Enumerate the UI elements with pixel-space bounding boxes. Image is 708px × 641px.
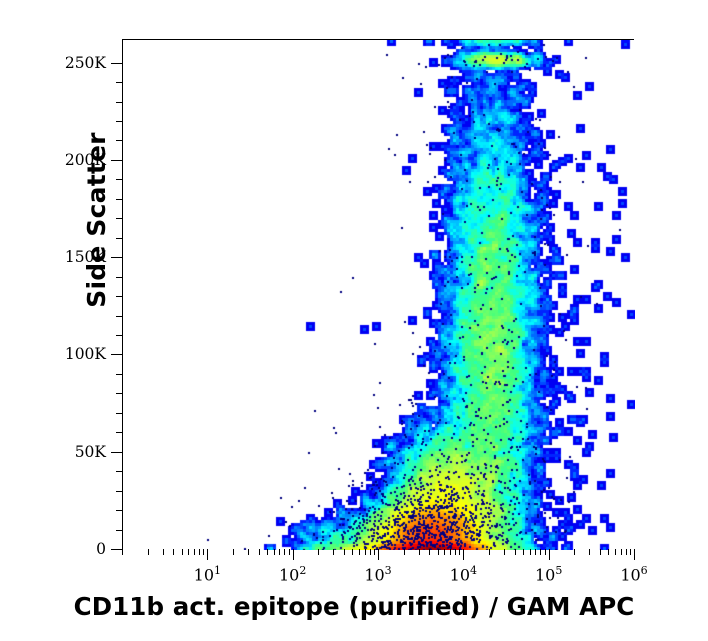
x-tick-minor <box>574 549 575 555</box>
y-tick-major <box>111 160 122 161</box>
y-tick-label: 100K <box>65 345 106 363</box>
x-tick-major <box>634 549 635 560</box>
x-tick-minor <box>279 549 280 555</box>
x-tick-minor <box>318 549 319 555</box>
x-tick-minor <box>370 549 371 555</box>
x-tick-major <box>378 549 379 560</box>
x-tick-label: 102 <box>279 564 306 584</box>
x-tick-minor <box>274 549 275 555</box>
plot-area <box>122 39 634 549</box>
x-tick-label: 106 <box>620 564 647 584</box>
x-tick-minor <box>615 549 616 555</box>
y-tick-major <box>111 452 122 453</box>
x-tick-minor <box>233 549 234 555</box>
x-tick-minor <box>374 549 375 555</box>
x-axis-title: CD11b act. epitope (purified) / GAM APC <box>0 592 708 621</box>
y-tick-label: 250K <box>65 54 106 72</box>
x-tick-minor <box>259 549 260 555</box>
x-tick-minor <box>352 549 353 555</box>
y-tick-label: 200K <box>65 151 106 169</box>
x-tick-minor <box>344 549 345 555</box>
y-tick-major <box>111 549 122 550</box>
x-tick-minor <box>444 549 445 555</box>
y-tick-label: 50K <box>75 443 106 461</box>
x-tick-minor <box>182 549 183 555</box>
y-axis: 050K100K150K200K250K <box>0 39 122 549</box>
x-tick-minor <box>333 549 334 555</box>
x-tick-minor <box>608 549 609 555</box>
chart-stage: Side Scatter 050K100K150K200K250K 101102… <box>0 0 708 641</box>
x-tick-minor <box>148 549 149 555</box>
x-tick-minor <box>365 549 366 555</box>
x-tick-minor <box>535 549 536 555</box>
x-tick-major <box>549 549 550 560</box>
y-tick-major <box>111 257 122 258</box>
x-tick-minor <box>188 549 189 555</box>
x-tick-minor <box>163 549 164 555</box>
x-tick-minor <box>621 549 622 555</box>
density-scatter-canvas <box>123 40 635 550</box>
x-tick-label: 105 <box>535 564 562 584</box>
x-tick-label: 104 <box>450 564 477 584</box>
x-tick-minor <box>589 549 590 555</box>
x-tick-minor <box>540 549 541 555</box>
x-tick-minor <box>523 549 524 555</box>
x-tick-minor <box>626 549 627 555</box>
x-tick-minor <box>630 549 631 555</box>
x-tick-minor <box>600 549 601 555</box>
x-tick-minor <box>122 549 123 555</box>
x-tick-minor <box>489 549 490 555</box>
x-tick-minor <box>450 549 451 555</box>
x-tick-minor <box>284 549 285 555</box>
y-tick-label: 0 <box>96 540 106 558</box>
x-tick-minor <box>404 549 405 555</box>
x-tick-minor <box>199 549 200 555</box>
x-tick-minor <box>173 549 174 555</box>
y-tick-major <box>111 354 122 355</box>
x-tick-minor <box>267 549 268 555</box>
x-tick-minor <box>203 549 204 555</box>
x-tick-minor <box>504 549 505 555</box>
x-tick-minor <box>194 549 195 555</box>
x-tick-major <box>293 549 294 560</box>
x-tick-label: 101 <box>194 564 221 584</box>
x-tick-major <box>463 549 464 560</box>
x-tick-minor <box>545 549 546 555</box>
x-tick-minor <box>455 549 456 555</box>
x-tick-minor <box>419 549 420 555</box>
x-tick-minor <box>289 549 290 555</box>
y-tick-major <box>111 63 122 64</box>
x-tick-minor <box>359 549 360 555</box>
x-tick-minor <box>515 549 516 555</box>
x-tick-minor <box>459 549 460 555</box>
x-tick-minor <box>248 549 249 555</box>
y-tick-label: 150K <box>65 248 106 266</box>
x-tick-minor <box>530 549 531 555</box>
x-tick-label: 103 <box>364 564 391 584</box>
x-tick-minor <box>438 549 439 555</box>
x-tick-major <box>207 549 208 560</box>
x-tick-minor <box>429 549 430 555</box>
